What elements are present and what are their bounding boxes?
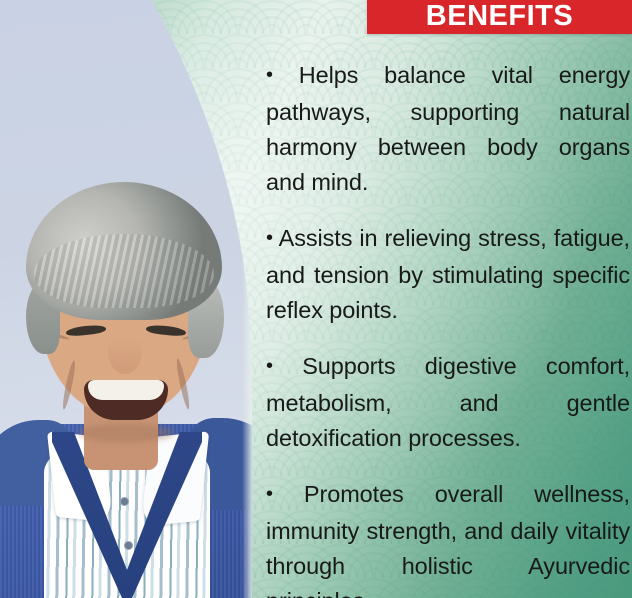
- benefits-poster: BENEFITS • Helps balance vital energy pa…: [0, 0, 632, 598]
- bullet-dot-4: •: [266, 477, 273, 512]
- bullet-dot-3: •: [266, 349, 273, 384]
- bullet-dot-1: •: [266, 58, 273, 93]
- gray-hair: [26, 182, 222, 320]
- benefit-text-1: Helps balance vital energy pathways, sup…: [266, 62, 630, 195]
- benefit-bullet-4: • Promotes overall wellness, immunity st…: [266, 477, 630, 598]
- benefits-list: • Helps balance vital energy pathways, s…: [266, 58, 632, 598]
- shirt-button-top: [120, 497, 129, 506]
- benefit-bullet-2: • Assists in relieving stress, fatigue, …: [266, 221, 630, 328]
- benefit-bullet-3: • Supports digestive comfort, metabolism…: [266, 349, 630, 456]
- smiling-mouth: [84, 380, 168, 420]
- teeth: [88, 380, 164, 400]
- benefit-bullet-1: • Helps balance vital energy pathways, s…: [266, 58, 630, 200]
- benefit-text-3: Supports digestive comfort, metabolism, …: [266, 353, 630, 451]
- benefit-text-2: Assists in relieving stress, fatigue, an…: [266, 225, 630, 323]
- shirt-button-bottom: [124, 541, 133, 550]
- banner-title: BENEFITS: [426, 2, 573, 32]
- chin-shadow: [78, 424, 174, 442]
- man-figure: [0, 178, 252, 598]
- benefit-text-4: Promotes overall wellness, immunity stre…: [266, 481, 630, 598]
- bullet-dot-2: •: [266, 221, 273, 256]
- benefits-banner: BENEFITS: [367, 0, 632, 34]
- nose: [108, 330, 142, 374]
